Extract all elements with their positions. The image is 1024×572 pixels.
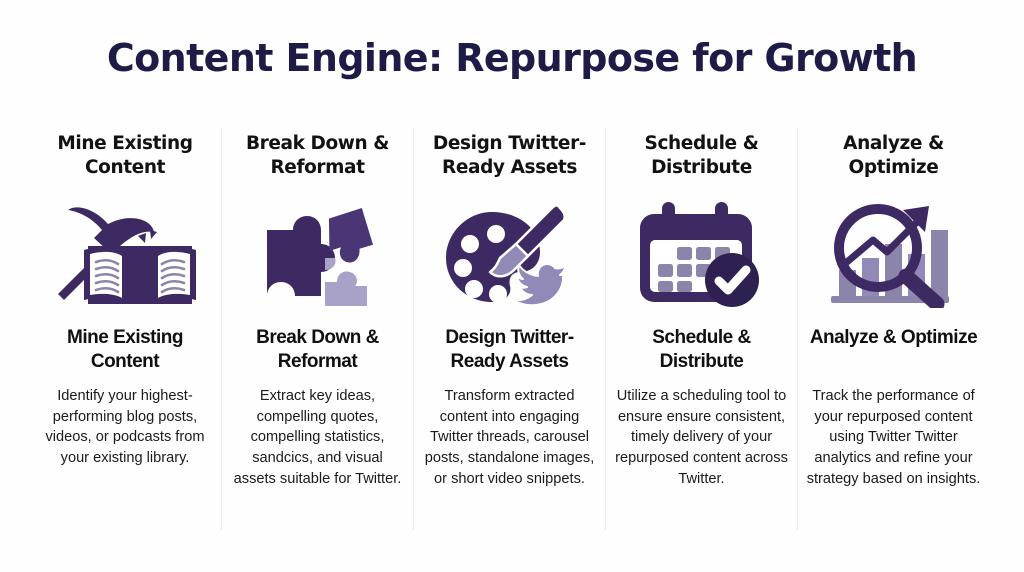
step-bottom-heading: Design Twitter-Ready Assets (420, 326, 599, 378)
step-bottom-heading: Mine Existing Content (35, 326, 215, 378)
magnifier-bar-chart-icon (804, 192, 983, 312)
step-description: Identify your highest-performing blog po… (35, 386, 215, 469)
pickaxe-book-icon (35, 192, 215, 312)
step-bottom-heading: Schedule & Distribute (612, 326, 791, 378)
step-description: Utilize a scheduling tool to ensure ensu… (612, 386, 791, 490)
infographic-root: Content Engine: Repurpose for Growth Min… (0, 0, 1024, 572)
step-description: Track the performance of your repurposed… (804, 386, 983, 490)
page-title: Content Engine: Repurpose for Growth (0, 36, 1024, 80)
step-bottom-heading: Analyze & Optimize (810, 326, 977, 378)
steps-container: Mine Existing Content (29, 128, 995, 530)
step-description: Transform extracted content into engagin… (420, 386, 599, 490)
puzzle-pieces-icon (228, 192, 407, 312)
step-description: Extract key ideas, compelling quotes, co… (228, 386, 407, 490)
step-column-design-twitter-assets: Design Twitter-Ready Assets (413, 128, 605, 530)
step-top-heading: Schedule & Distribute (612, 132, 791, 184)
palette-brush-bird-icon (420, 192, 599, 312)
step-top-heading: Mine Existing Content (35, 132, 215, 184)
step-column-mine-existing-content: Mine Existing Content (29, 128, 221, 530)
step-top-heading: Analyze & Optimize (804, 132, 983, 184)
step-column-break-down-reformat: Break Down & Reformat Break Down & Refor… (221, 128, 413, 530)
step-column-schedule-distribute: Schedule & Distribute (605, 128, 797, 530)
step-top-heading: Design Twitter-Ready Assets (420, 132, 599, 184)
step-bottom-heading: Break Down & Reformat (228, 326, 407, 378)
calendar-check-icon (612, 192, 791, 312)
step-top-heading: Break Down & Reformat (228, 132, 407, 184)
step-column-analyze-optimize: Analyze & Optimize (797, 128, 989, 530)
